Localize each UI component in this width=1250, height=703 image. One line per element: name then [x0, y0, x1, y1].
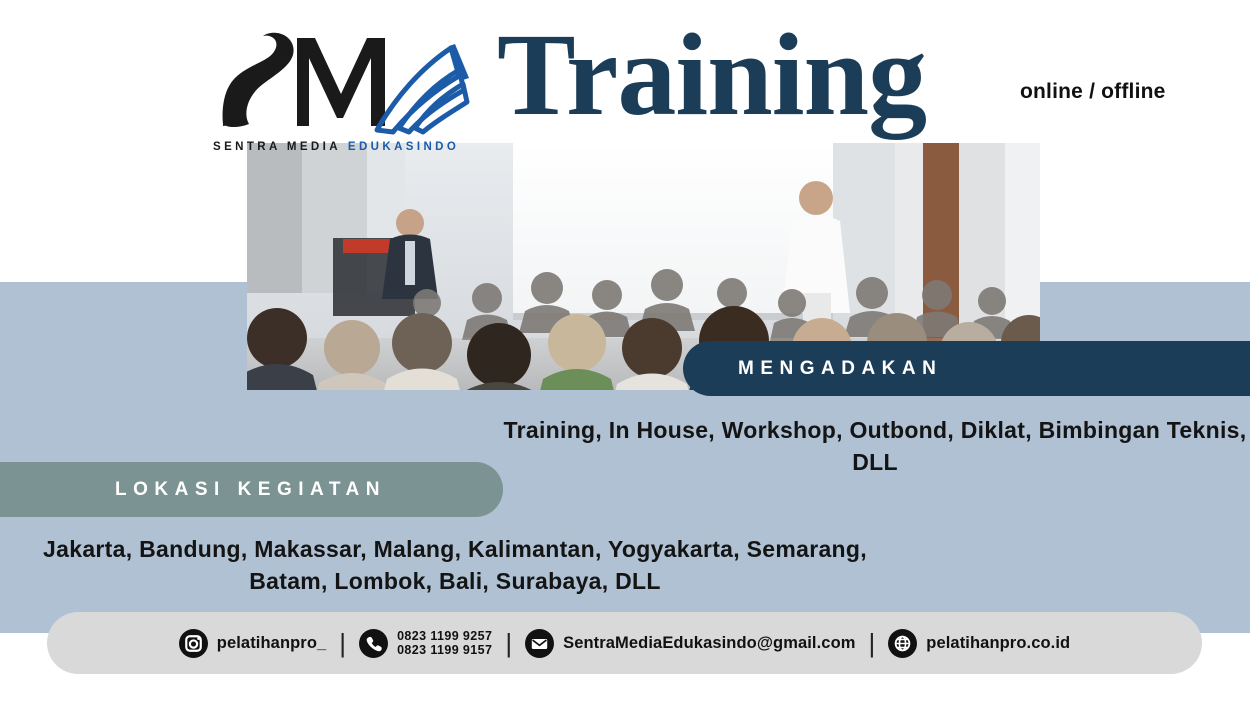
globe-icon — [888, 629, 917, 658]
instagram-icon — [179, 629, 208, 658]
contact-website-value: pelatihanpro.co.id — [926, 634, 1070, 653]
contact-email[interactable]: SentraMediaEdukasindo@gmail.com — [525, 629, 855, 658]
contact-footer-bar: pelatihanpro_ | 0823 1199 9257 0823 1199… — [47, 612, 1202, 674]
page-title: Training — [497, 16, 926, 134]
contact-separator: | — [869, 630, 876, 656]
contact-phone[interactable]: 0823 1199 9257 0823 1199 9157 — [359, 629, 492, 658]
brand-logo: SENTRA MEDIA EDUKASINDO — [213, 28, 475, 153]
mengadakan-body: Training, In House, Workshop, Outbond, D… — [500, 414, 1250, 478]
contact-separator: | — [505, 630, 512, 656]
contact-phone-value: 0823 1199 9257 0823 1199 9157 — [397, 629, 492, 657]
brand-name-part1: SENTRA MEDIA — [213, 141, 341, 153]
logo-mark — [213, 28, 475, 138]
lokasi-kegiatan-label: LOKASI KEGIATAN — [87, 479, 386, 501]
mengadakan-banner: MENGADAKAN — [683, 341, 1250, 396]
lokasi-kegiatan-body: Jakarta, Bandung, Makassar, Malang, Kali… — [25, 533, 885, 597]
lokasi-kegiatan-banner: LOKASI KEGIATAN — [0, 462, 503, 517]
phone-icon — [359, 629, 388, 658]
contact-email-value: SentraMediaEdukasindo@gmail.com — [563, 634, 855, 653]
brand-wordmark: SENTRA MEDIA EDUKASINDO — [213, 141, 475, 153]
headline-subtitle: online / offline — [1020, 80, 1166, 104]
contact-separator: | — [339, 630, 346, 656]
contact-website[interactable]: pelatihanpro.co.id — [888, 629, 1070, 658]
email-icon — [525, 629, 554, 658]
flyer-canvas: SENTRA MEDIA EDUKASINDO Training online … — [0, 0, 1250, 703]
contact-instagram-value: pelatihanpro_ — [217, 634, 327, 653]
contact-instagram[interactable]: pelatihanpro_ — [179, 629, 327, 658]
mengadakan-label: MENGADAKAN — [738, 358, 942, 380]
brand-name-part2: EDUKASINDO — [348, 141, 459, 153]
